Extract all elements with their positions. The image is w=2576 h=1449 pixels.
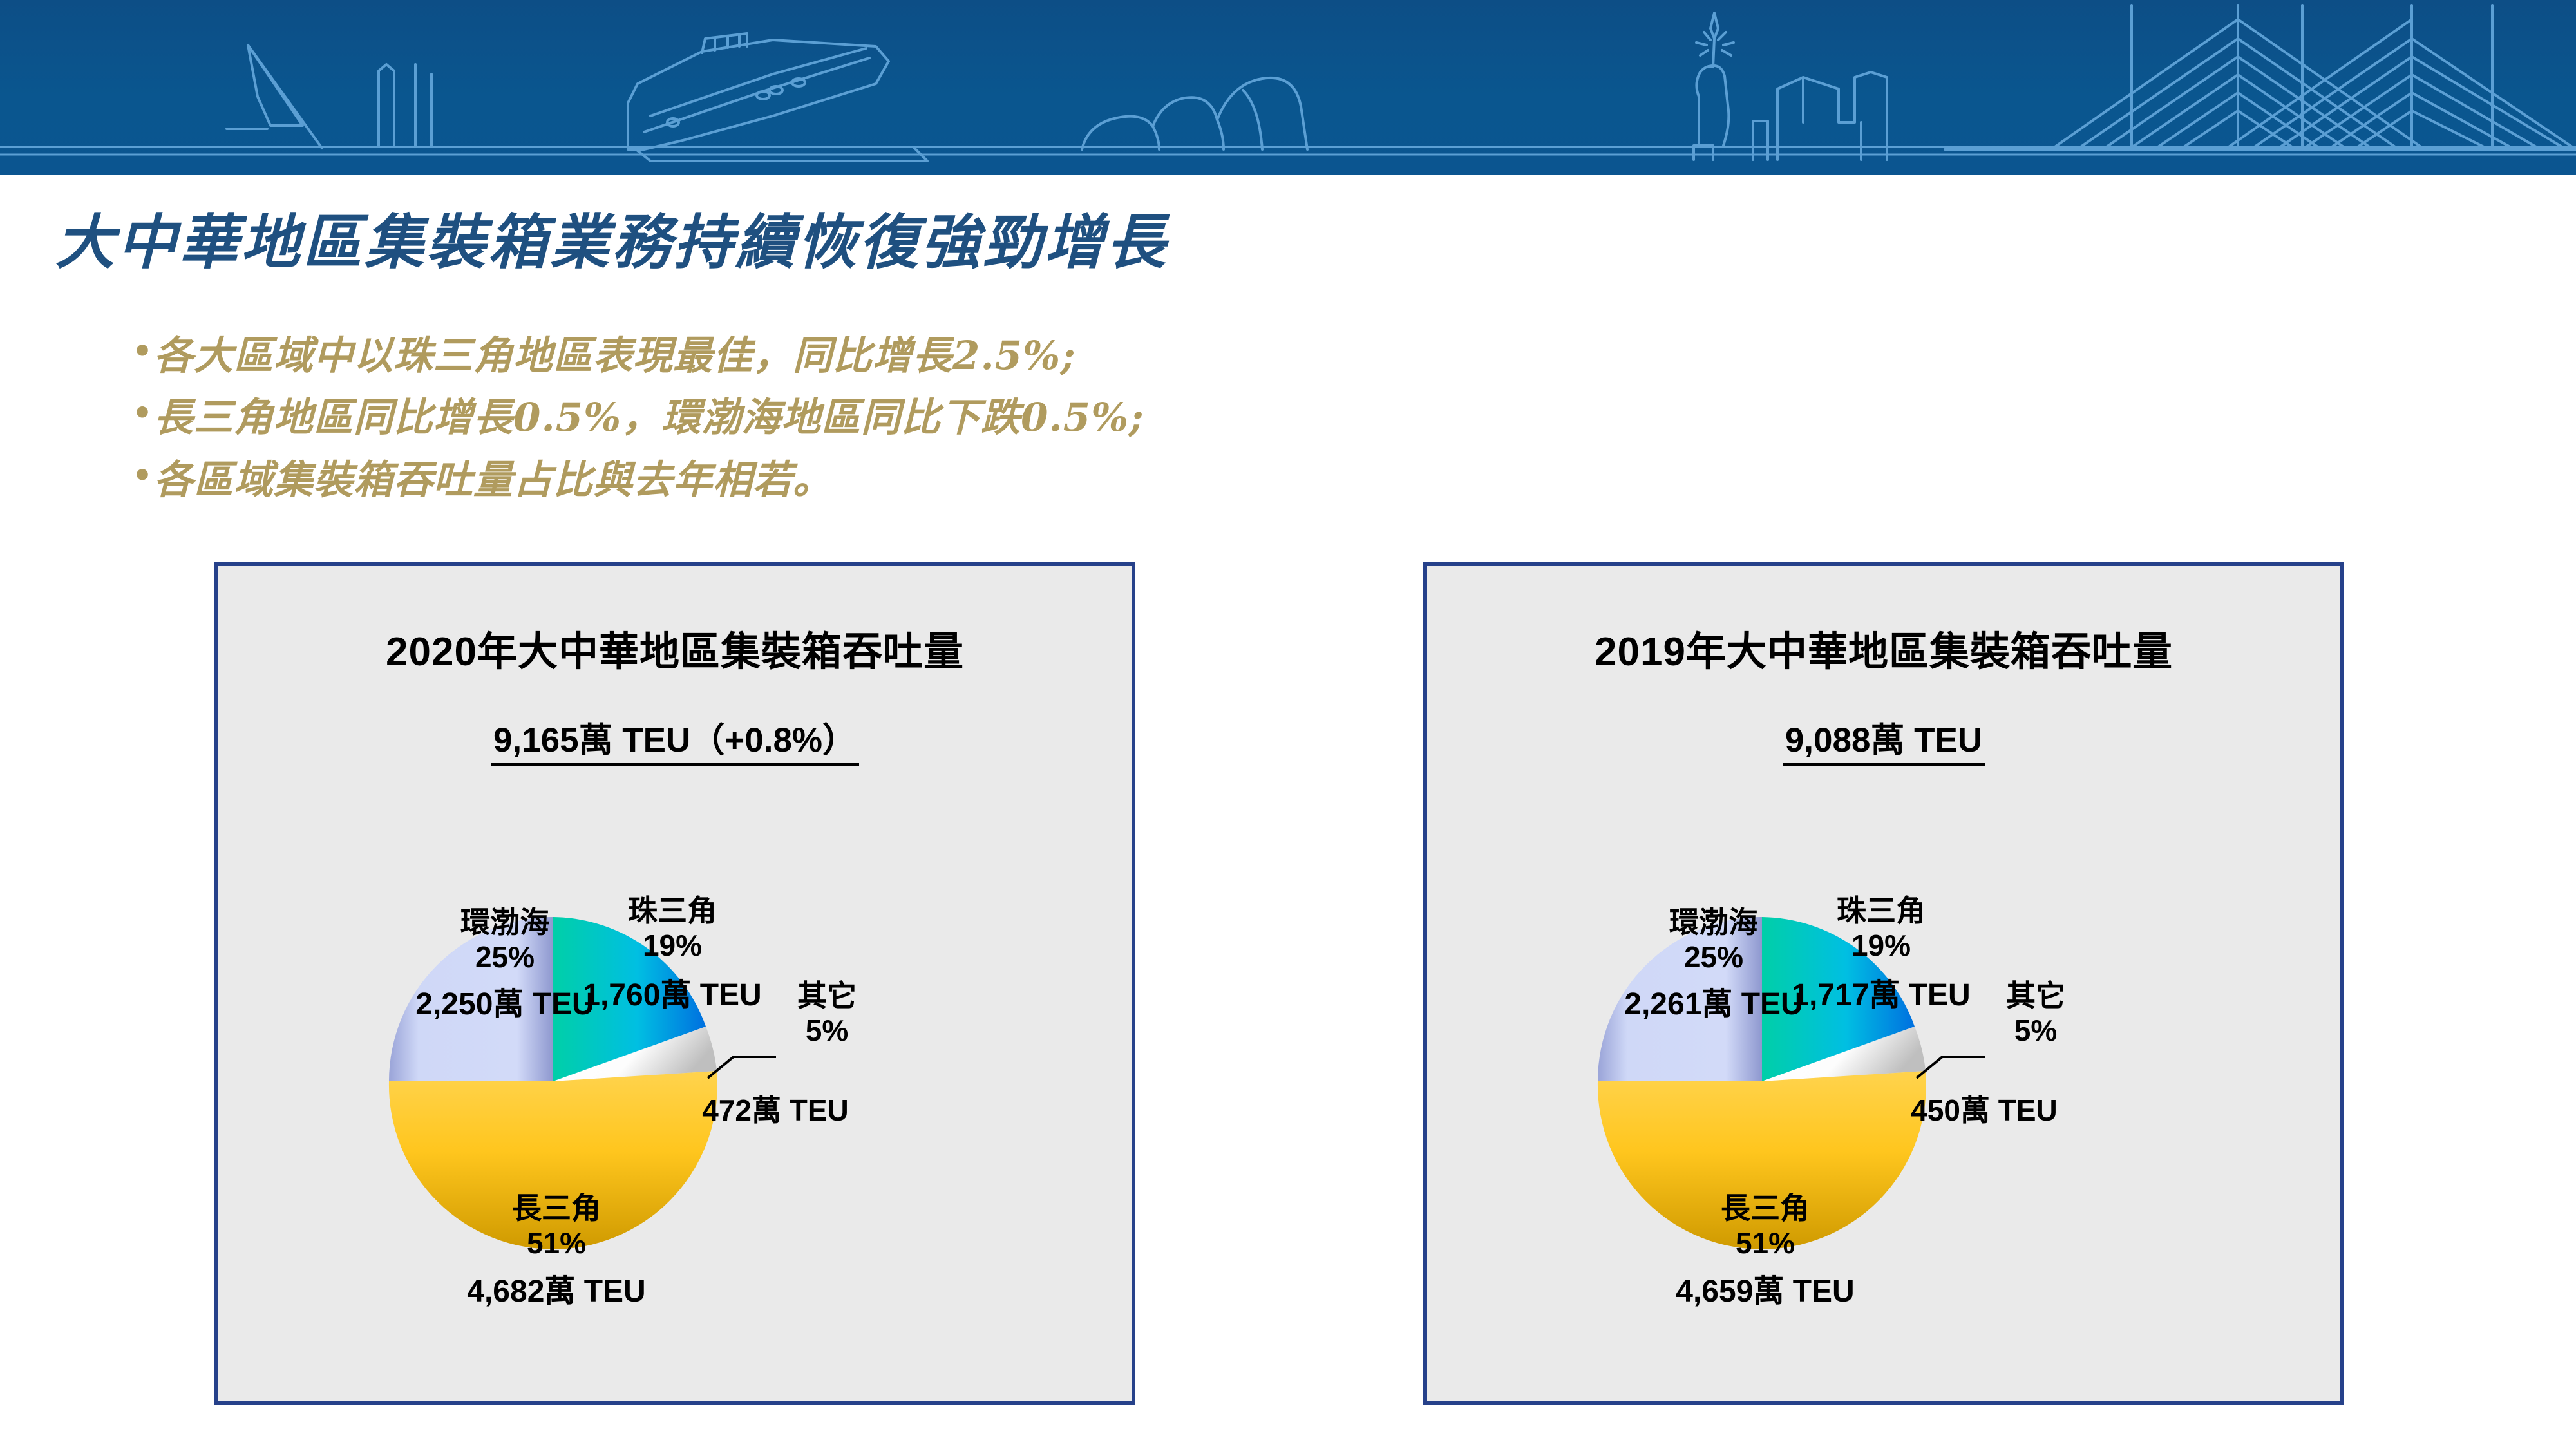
pie-chart-2020: 環渤海 25% 2,250萬 TEU 珠三角 19% 1,760萬 TEU 其它… xyxy=(218,779,1132,1384)
chart-title: 2020年大中華地區集裝箱吞吐量 xyxy=(218,619,1132,677)
pie-chart-2019: 環渤海 25% 2,261萬 TEU 珠三角 19% 1,717萬 TEU 其它… xyxy=(1427,779,2340,1384)
pie-label-prd-name: 珠三角 xyxy=(569,893,775,928)
leader-line-other xyxy=(1917,1057,1985,1078)
pie-label-yrd-pct: 51% xyxy=(1656,1226,1875,1260)
chart-subtitle-text: 9,088萬 TEU xyxy=(1783,721,1985,766)
pie-svg xyxy=(218,779,1133,1384)
pie-label-other-name: 其它 xyxy=(762,978,891,1013)
page-title: 大中華地區集裝箱業務持續恢復強勁增長 xyxy=(55,211,1168,274)
header-banner xyxy=(0,0,2576,175)
pie-label-prd: 珠三角 19% 1,717萬 TEU xyxy=(1778,893,1984,1014)
pie-svg xyxy=(1427,779,2342,1384)
pie-label-yrd-name: 長三角 xyxy=(447,1191,666,1226)
pie-label-yrd: 長三角 51% 4,682萬 TEU xyxy=(447,1191,666,1310)
chart-panel-2019: 2019年大中華地區集裝箱吞吐量 9,088萬 TEU xyxy=(1423,562,2344,1405)
chart-title: 2019年大中華地區集裝箱吞吐量 xyxy=(1427,619,2340,677)
bullet-list: • 各大區域中以珠三角地區表現最佳，同比增長2.5%; • 長三角地區同比增長0… xyxy=(132,332,2000,518)
chart-panel-2020: 2020年大中華地區集裝箱吞吐量 9,165萬 TEU（+0.8%） xyxy=(214,562,1135,1405)
statue-of-liberty-outline xyxy=(1694,13,1734,160)
bullet-dot-icon: • xyxy=(132,394,154,431)
pie-label-yrd-name: 長三角 xyxy=(1656,1191,1875,1226)
pie-label-other: 其它 5% xyxy=(762,978,891,1048)
container-ship-outline xyxy=(628,33,927,161)
pie-label-other-pct: 5% xyxy=(762,1013,891,1048)
pie-label-other-value: 472萬 TEU xyxy=(669,1093,882,1128)
pie-label-prd-name: 珠三角 xyxy=(1778,893,1984,928)
bullet-item: • 長三角地區同比增長0.5%，環渤海地區同比下跌0.5%; xyxy=(132,394,2000,442)
pie-label-other-pct: 5% xyxy=(1971,1013,2100,1048)
cable-stayed-bridge-outline xyxy=(1945,5,2576,149)
chart-subtitle: 9,088萬 TEU xyxy=(1427,713,2340,762)
pie-label-prd-value: 1,717萬 TEU xyxy=(1778,978,1984,1014)
pie-label-yrd-value: 4,682萬 TEU xyxy=(447,1274,666,1311)
leader-line-other xyxy=(708,1057,776,1078)
bullet-item: • 各區域集裝箱吞吐量占比與去年相若。 xyxy=(132,457,2000,504)
opera-house-outline xyxy=(1082,78,1307,149)
header-skyline-artwork xyxy=(0,0,2576,175)
chart-subtitle: 9,165萬 TEU（+0.8%） xyxy=(218,713,1132,762)
pie-label-other: 其它 5% xyxy=(1971,978,2100,1048)
pie-label-prd-value: 1,760萬 TEU xyxy=(569,978,775,1014)
bullet-dot-icon: • xyxy=(132,457,154,494)
chart-subtitle-text: 9,165萬 TEU（+0.8%） xyxy=(491,721,859,766)
pie-label-yrd-value: 4,659萬 TEU xyxy=(1656,1274,1875,1311)
bullet-dot-icon: • xyxy=(132,332,154,370)
pie-label-prd-pct: 19% xyxy=(1778,928,1984,963)
pie-label-yrd: 長三角 51% 4,659萬 TEU xyxy=(1656,1191,1875,1310)
crane-outline xyxy=(227,45,431,148)
bullet-text: 長三角地區同比增長0.5%，環渤海地區同比下跌0.5%; xyxy=(154,394,1144,442)
pie-label-other-value: 450萬 TEU xyxy=(1878,1093,2090,1128)
bullet-text: 各區域集裝箱吞吐量占比與去年相若。 xyxy=(154,457,833,504)
pie-label-prd-pct: 19% xyxy=(569,928,775,963)
pie-label-prd: 珠三角 19% 1,760萬 TEU xyxy=(569,893,775,1014)
pie-label-other-name: 其它 xyxy=(1971,978,2100,1013)
pie-label-yrd-pct: 51% xyxy=(447,1226,666,1260)
bullet-text: 各大區域中以珠三角地區表現最佳，同比增長2.5%; xyxy=(154,332,1076,380)
bullet-item: • 各大區域中以珠三角地區表現最佳，同比增長2.5%; xyxy=(132,332,2000,380)
